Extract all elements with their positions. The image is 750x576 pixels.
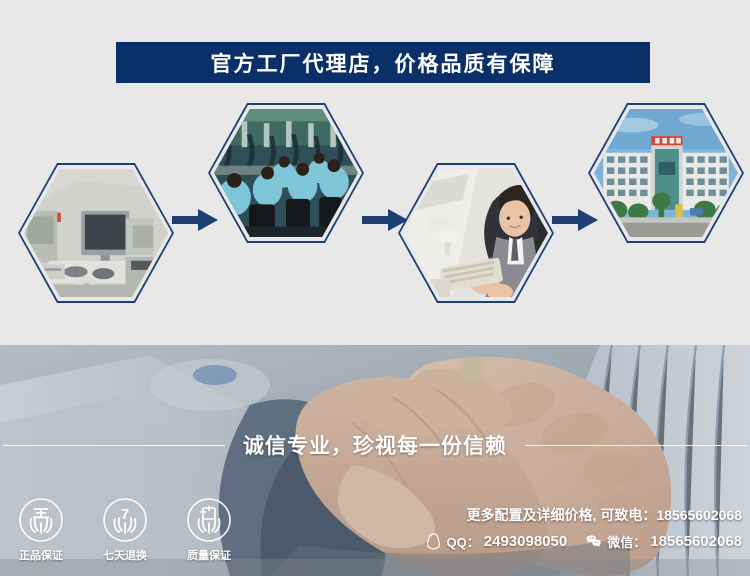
qq-penguin-icon — [424, 532, 443, 551]
contact-social-line: QQ： 2493098050 微信： 18565602068 — [424, 532, 742, 551]
process-step-equipment[interactable] — [18, 163, 174, 303]
process-step-service[interactable] — [398, 163, 554, 303]
hands-holding-icon: 7 — [102, 497, 148, 543]
contact-phone-label: 更多配置及详细价格, 可致电： — [467, 505, 657, 525]
contact-phone-number: 18565602068 — [656, 507, 742, 523]
badge-genuine[interactable]: 正品保证 — [8, 497, 74, 563]
badge-return[interactable]: 7 七天退换 — [92, 497, 158, 563]
hands-holding-icon — [18, 497, 64, 543]
contact-qq-number: 2493098050 — [484, 533, 567, 550]
contact-qq-label: QQ： — [447, 532, 480, 551]
slogan-text: 诚信专业，珍视每一份信赖 — [243, 430, 507, 460]
hands-holding-icon — [186, 497, 232, 543]
badge-label-genuine: 正品保证 — [8, 547, 74, 563]
slogan-row: 诚信专业，珍视每一份信赖 — [0, 427, 750, 463]
headline-banner: 官方工厂代理店，价格品质有保障 — [116, 42, 650, 83]
svg-text:7: 7 — [121, 506, 129, 523]
badge-label-return: 七天退换 — [92, 547, 158, 563]
contact-qq[interactable]: QQ： 2493098050 — [424, 532, 568, 551]
contact-wechat[interactable]: 微信： 18565602068 — [584, 532, 742, 551]
slogan-rule-left — [3, 445, 225, 446]
contact-wechat-label: 微信： — [607, 532, 646, 551]
bottom-section: 诚信专业，珍视每一份信赖 — [0, 345, 750, 576]
contact-phone-line: 更多配置及详细价格, 可致电： 18565602068 — [424, 505, 742, 525]
badge-label-quality: 质量保证 — [176, 547, 242, 563]
process-step-production[interactable] — [208, 103, 364, 243]
badge-quality[interactable]: 质量保证 — [176, 497, 242, 563]
contact-wechat-number: 18565602068 — [650, 533, 742, 550]
process-step-company[interactable] — [588, 103, 744, 243]
wechat-icon — [584, 532, 603, 551]
headline-text: 官方工厂代理店，价格品质有保障 — [211, 48, 556, 78]
contact-block: 更多配置及详细价格, 可致电： 18565602068 QQ： 24930980… — [424, 505, 742, 551]
process-flow — [0, 95, 750, 320]
slogan-rule-right — [525, 445, 747, 446]
top-section: 官方工厂代理店，价格品质有保障 — [0, 0, 750, 345]
guarantee-badges: 正品保证 7 七天退换 — [8, 497, 242, 563]
